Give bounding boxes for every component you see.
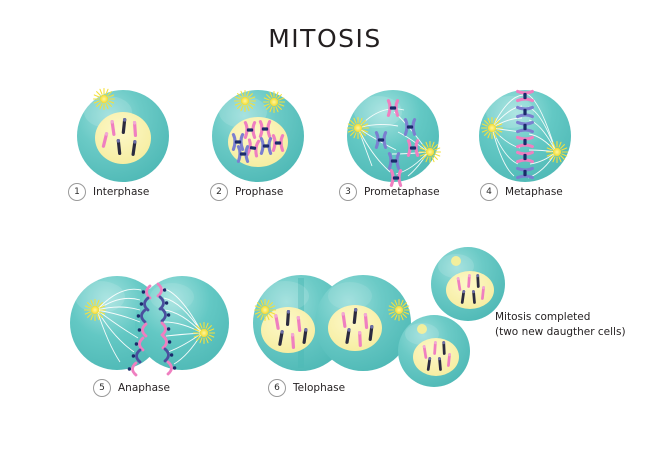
mitosis-diagram: MITOSIS (0, 0, 650, 460)
centrosome-icon (255, 300, 276, 321)
cell-interphase (77, 89, 169, 183)
centrosome-icon (389, 300, 410, 321)
stage-label-prophase: 2 Prophase (210, 183, 283, 201)
cell-metaphase (479, 90, 571, 182)
stage-label-metaphase: 4 Metaphase (480, 183, 563, 201)
stage-number-badge: 5 (93, 379, 111, 397)
nucleus (95, 112, 151, 164)
cell-telophase (253, 275, 411, 371)
stage-label-prometaphase: 3 Prometaphase (339, 183, 440, 201)
centrosome-icon (264, 92, 285, 113)
stage-label-interphase: 1 Interphase (68, 183, 149, 201)
stage-number-badge: 1 (68, 183, 86, 201)
cell-anaphase (70, 276, 229, 375)
centrosome-icon (194, 323, 215, 344)
stage-number-badge: 2 (210, 183, 228, 201)
stage-number-badge: 4 (480, 183, 498, 201)
centrosome-icon (235, 91, 256, 112)
centrosome-icon (417, 324, 427, 334)
cell-prophase (212, 90, 304, 182)
stage-number-badge: 3 (339, 183, 357, 201)
daughter-cell-upper (431, 247, 505, 321)
centrosome-icon (420, 142, 441, 163)
stage-label-text: Prometaphase (364, 186, 440, 198)
centrosome-icon (94, 89, 115, 110)
centrosome-icon (451, 256, 461, 266)
stage-label-anaphase: 5 Anaphase (93, 379, 170, 397)
stage-number-badge: 6 (268, 379, 286, 397)
cell-prometaphase (347, 90, 441, 185)
stage-label-telophase: 6 Telophase (268, 379, 345, 397)
daughter-cell-lower (398, 315, 470, 387)
stage-label-text: Interphase (93, 186, 149, 198)
centrosome-icon (85, 300, 106, 321)
centrosome-icon (348, 118, 369, 139)
centrosome-icon (482, 118, 503, 139)
centrosome-icon (547, 142, 568, 163)
stage-label-text: Telophase (293, 382, 345, 394)
stage-label-text: Anaphase (118, 382, 170, 394)
stage-label-text: Prophase (235, 186, 283, 198)
stage-label-text: Metaphase (505, 186, 563, 198)
